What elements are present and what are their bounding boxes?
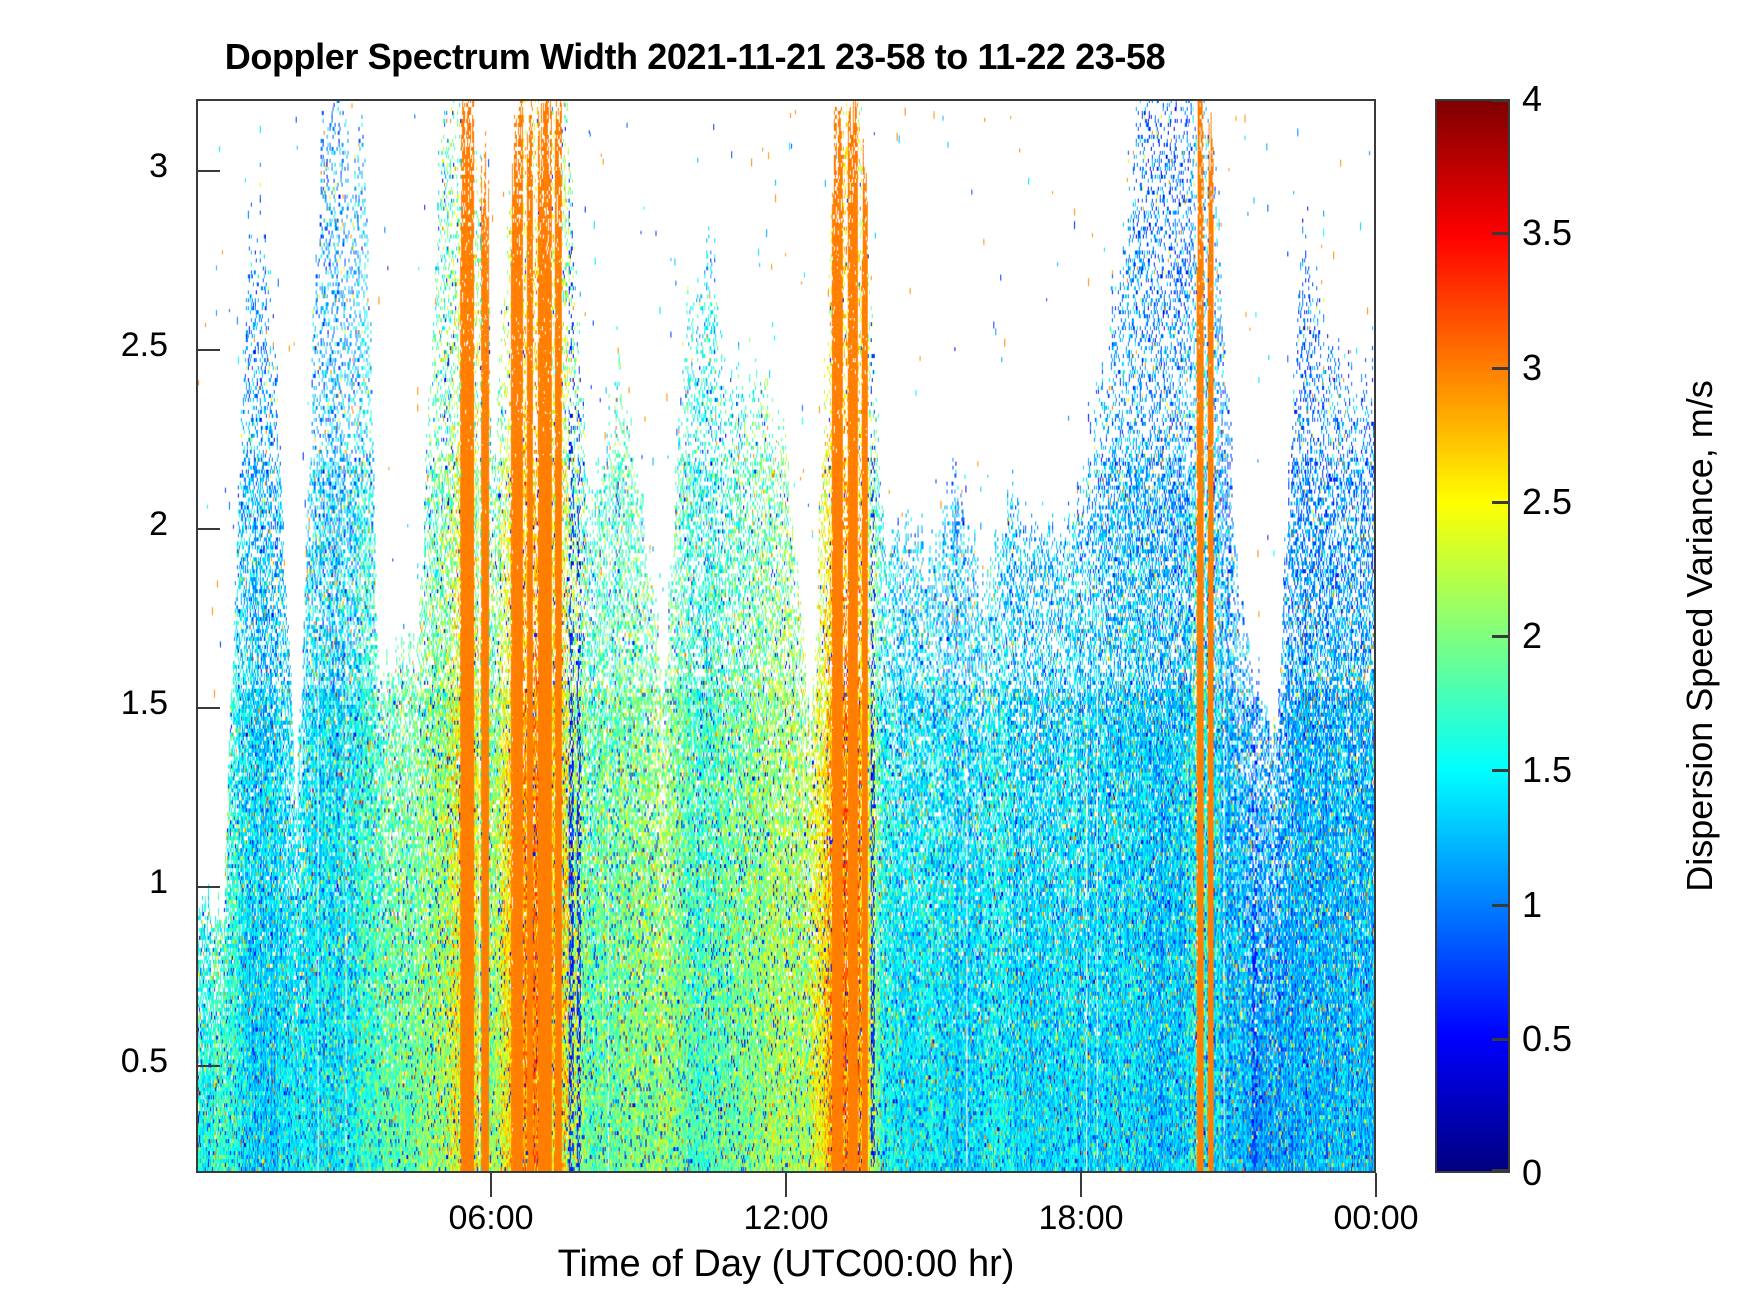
x-axis-tick: [785, 1173, 787, 1197]
colorbar-tick: [1492, 635, 1510, 638]
colorbar-tick-label: 0.5: [1522, 1018, 1572, 1060]
colorbar-tick-label: 1: [1522, 884, 1542, 926]
colorbar-tick: [1492, 769, 1510, 772]
colorbar-tick: [1492, 1169, 1510, 1172]
colorbar-title: Dispersion Speed Variance, m/s: [1679, 136, 1721, 1136]
y-axis-tick: [196, 528, 220, 530]
colorbar-tick: [1492, 99, 1510, 102]
y-axis-tick: [196, 1065, 220, 1067]
colorbar-title-wrap: Dispersion Speed Variance, m/s: [1700, 99, 1701, 1173]
figure-root: Doppler Spectrum Width 2021-11-21 23-58 …: [0, 0, 1750, 1313]
y-axis-tick: [196, 707, 220, 709]
colorbar-tick-label: 3.5: [1522, 212, 1572, 254]
y-axis-tick-label: 2: [0, 505, 168, 544]
colorbar-tick: [1492, 904, 1510, 907]
y-axis-title-wrap: Distance (km): [64, 99, 65, 1173]
y-axis-tick: [196, 349, 220, 351]
colorbar-tick-label: 3: [1522, 347, 1542, 389]
y-axis-tick-label: 3: [0, 147, 168, 186]
y-axis-tick: [196, 170, 220, 172]
colorbar-tick: [1492, 1038, 1510, 1041]
x-axis-tick: [1080, 1173, 1082, 1197]
colorbar-tick-label: 2.5: [1522, 481, 1572, 523]
x-axis-tick: [490, 1173, 492, 1197]
y-axis-tick-label: 2.5: [0, 326, 168, 365]
y-axis-tick-label: 1: [0, 863, 168, 902]
colorbar-tick: [1492, 367, 1510, 370]
y-axis-tick: [196, 886, 220, 888]
page-title: Doppler Spectrum Width 2021-11-21 23-58 …: [0, 36, 1390, 78]
y-axis-tick-label: 0.5: [0, 1042, 168, 1081]
x-axis-tick: [1375, 1173, 1377, 1197]
colorbar-tick-label: 0: [1522, 1152, 1542, 1194]
colorbar-tick: [1492, 501, 1510, 504]
x-axis-tick-label: 00:00: [1266, 1199, 1486, 1238]
colorbar-tick: [1492, 232, 1510, 235]
y-axis-tick-label: 1.5: [0, 684, 168, 723]
x-axis-tick-label: 06:00: [381, 1199, 601, 1238]
x-axis-tick-label: 18:00: [971, 1199, 1191, 1238]
heatmap-canvas: [198, 101, 1374, 1171]
colorbar-tick-label: 2: [1522, 615, 1542, 657]
plot-area: [196, 99, 1376, 1173]
colorbar-tick-label: 4: [1522, 78, 1542, 120]
x-axis-tick-label: 12:00: [676, 1199, 896, 1238]
x-axis-title: Time of Day (UTC00:00 hr): [196, 1243, 1376, 1286]
colorbar-tick-label: 1.5: [1522, 749, 1572, 791]
